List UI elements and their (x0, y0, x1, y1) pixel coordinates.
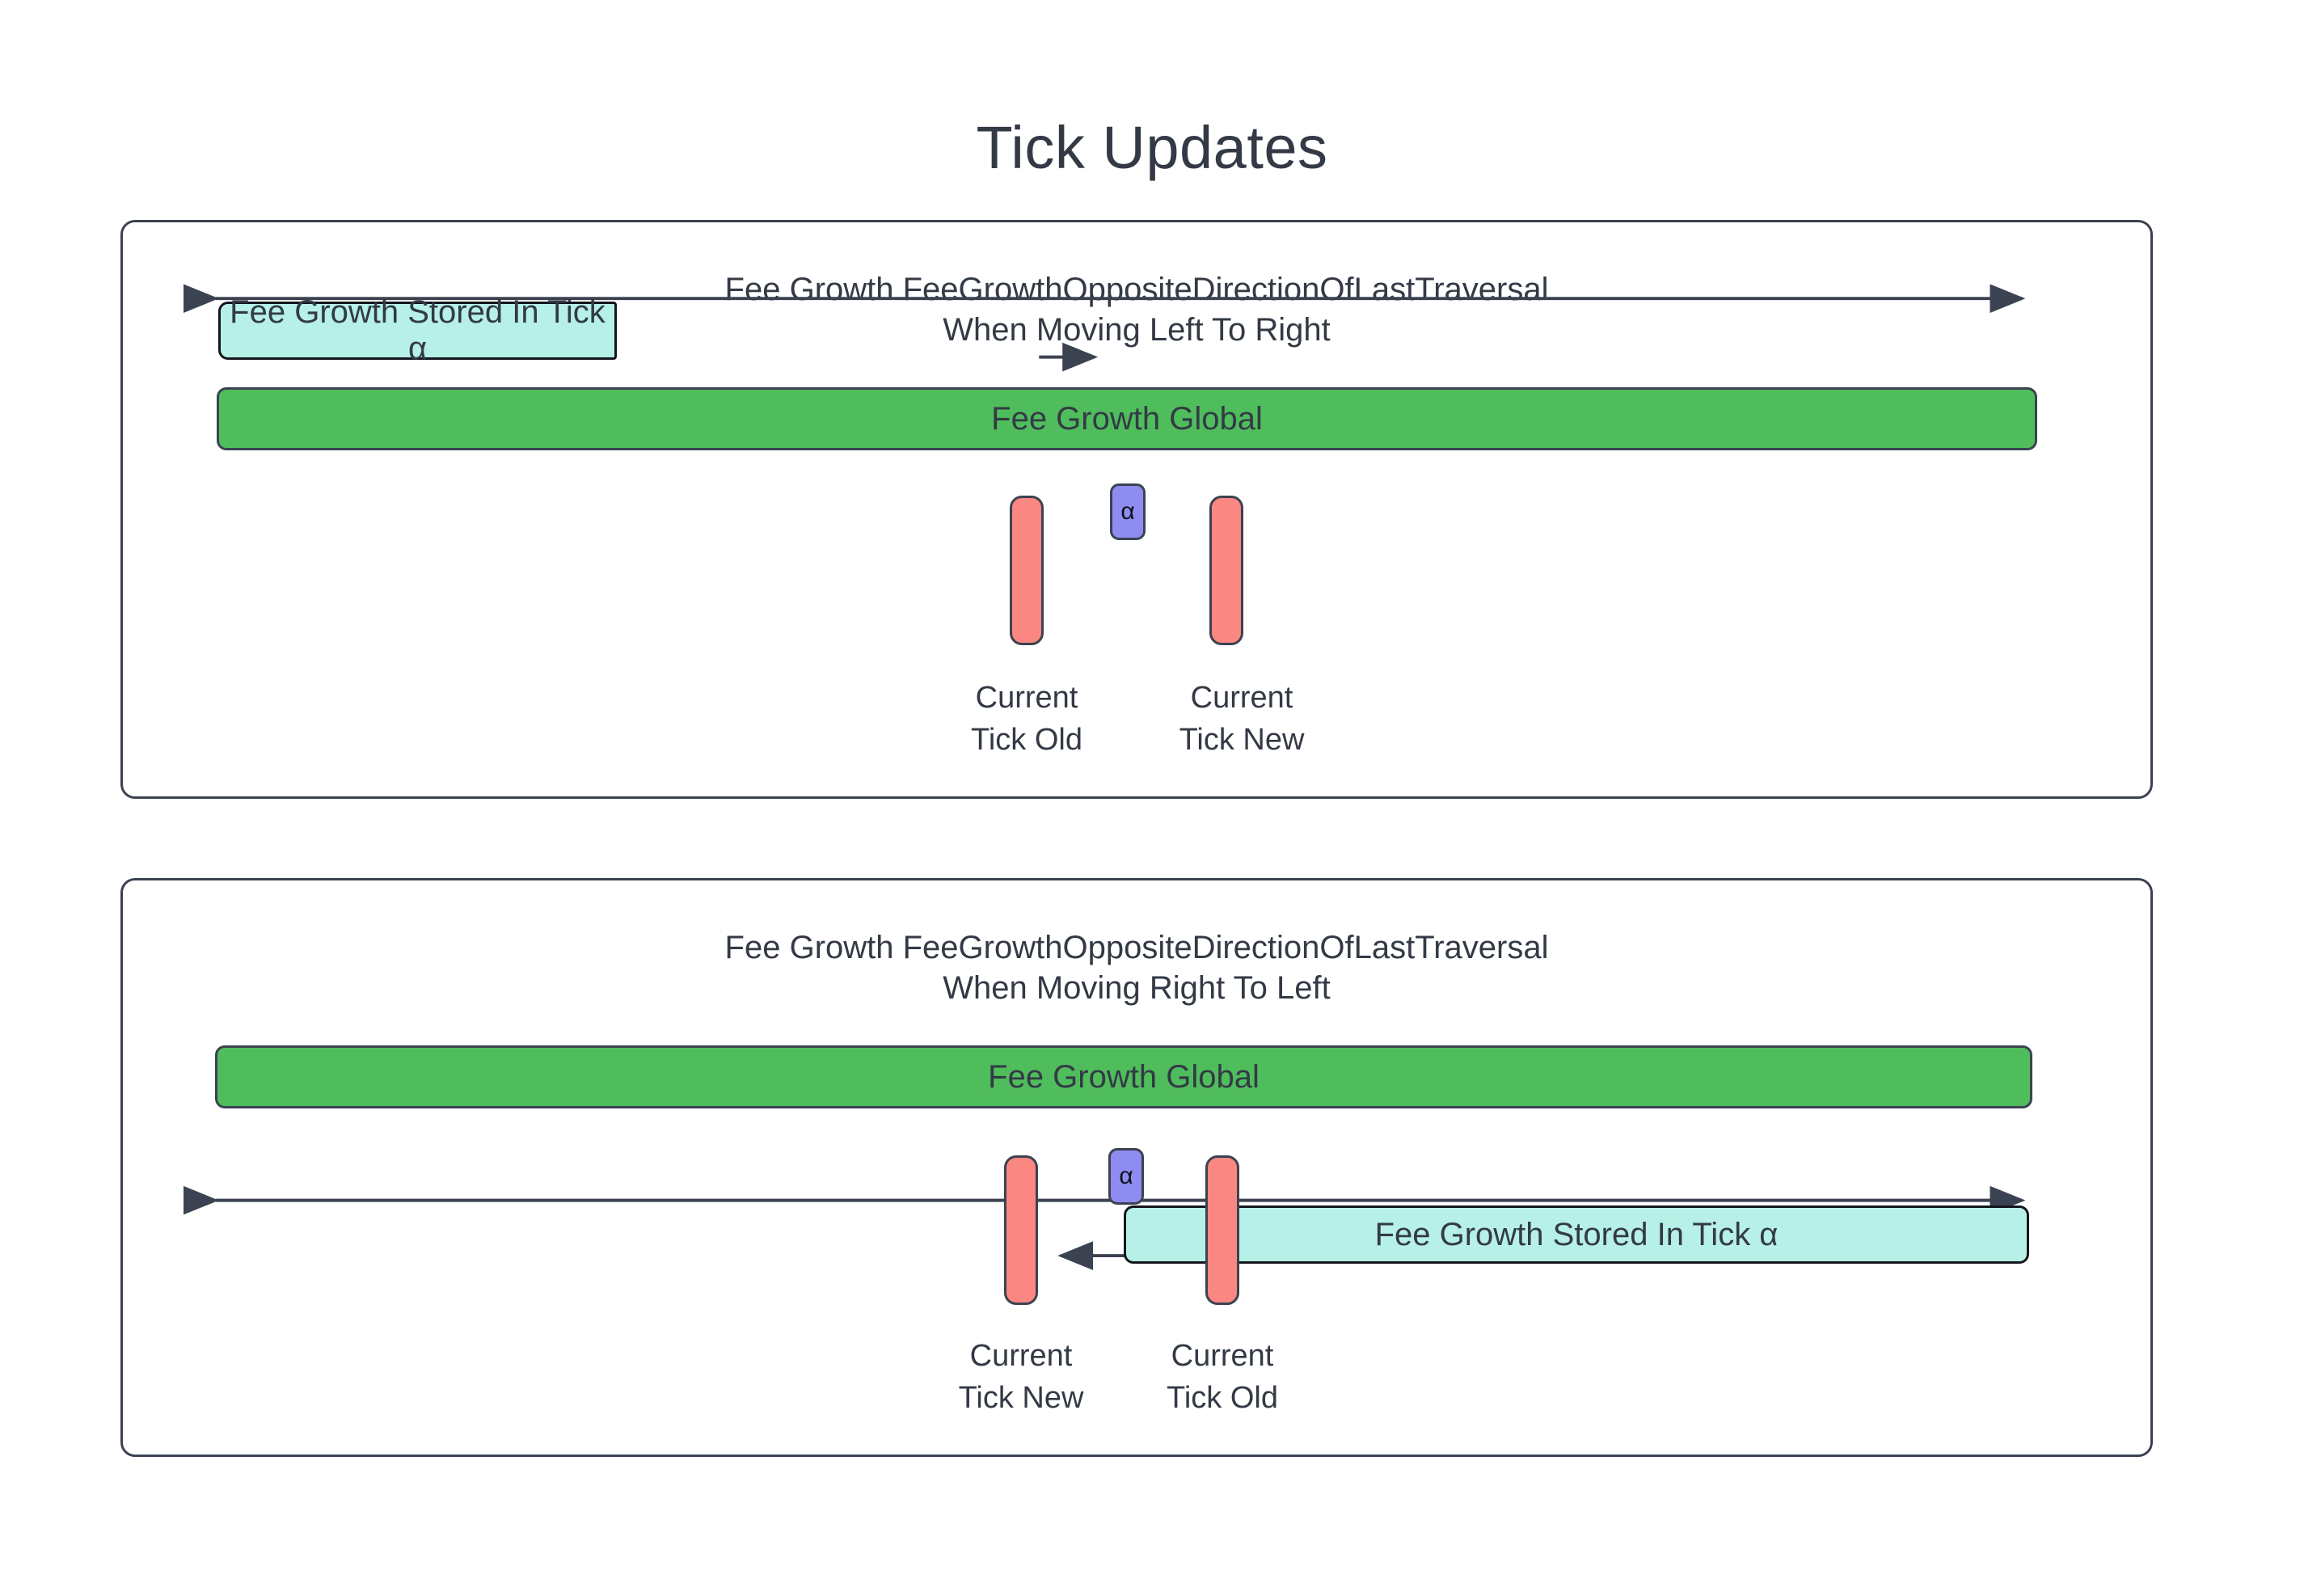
tick-caption-current-tick-new: Current Tick New (1179, 677, 1305, 761)
tick-caption-current-tick-new: Current Tick New (959, 1335, 1084, 1419)
alpha-badge: α (1110, 483, 1146, 540)
page-title: Tick Updates (0, 113, 2304, 182)
fee-growth-stored-in-tick-box: Fee Growth Stored In Tick α (218, 302, 617, 360)
panel-subtitle: Fee Growth FeeGrowthOppositeDirectionOfL… (123, 927, 2150, 1008)
alpha-badge-label: α (1119, 1163, 1133, 1190)
tick-caption-current-tick-old: Current Tick Old (1167, 1335, 1278, 1419)
panel-left-to-right: Fee Growth FeeGrowthOppositeDirectionOfL… (120, 220, 2153, 799)
panel-right-to-left: Fee Growth FeeGrowthOppositeDirectionOfL… (120, 878, 2153, 1457)
fee-growth-global-bar: Fee Growth Global (215, 1045, 2032, 1108)
fee-growth-stored-label: Fee Growth Stored In Tick α (1126, 1217, 2027, 1253)
tick-caption-current-tick-old: Current Tick Old (971, 677, 1082, 761)
alpha-badge-label: α (1120, 498, 1134, 526)
tick-marker-current-tick-old[interactable] (1010, 496, 1044, 645)
tick-marker-current-tick-new[interactable] (1209, 496, 1243, 645)
fee-growth-stored-in-tick-box: Fee Growth Stored In Tick α (1124, 1205, 2029, 1264)
alpha-badge: α (1108, 1148, 1144, 1205)
fee-growth-global-bar: Fee Growth Global (217, 387, 2037, 450)
tick-marker-current-tick-old[interactable] (1205, 1155, 1239, 1305)
fee-growth-global-label: Fee Growth Global (988, 1059, 1260, 1096)
fee-growth-global-label: Fee Growth Global (991, 401, 1263, 437)
fee-growth-stored-label: Fee Growth Stored In Tick α (221, 294, 614, 367)
tick-marker-current-tick-new[interactable] (1004, 1155, 1038, 1305)
